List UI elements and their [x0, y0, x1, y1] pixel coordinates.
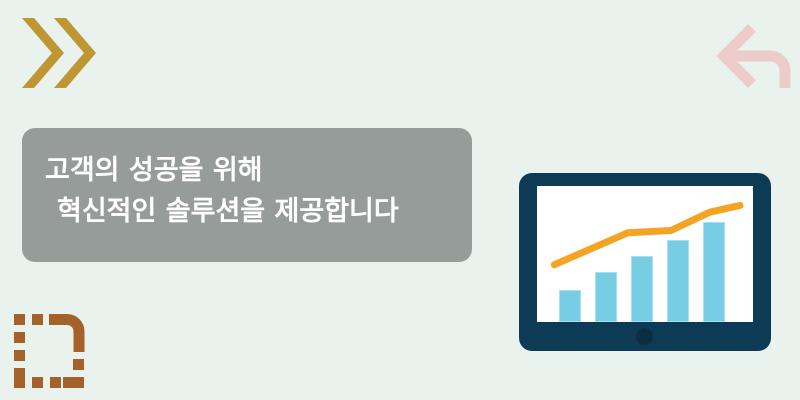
dashed-square-rounded-corner-icon: [12, 312, 86, 390]
reply-arrow-icon: [712, 18, 792, 94]
tablet-frame: [519, 173, 771, 351]
headline-panel: 고객의 성공을 위해 혁신적인 솔루션을 제공합니다: [22, 128, 472, 262]
slide-canvas: 고객의 성공을 위해 혁신적인 솔루션을 제공합니다: [0, 0, 800, 400]
trend-line-chart: [537, 186, 753, 322]
double-chevron-right-icon: [20, 16, 98, 90]
home-button[interactable]: [636, 328, 653, 345]
tablet-illustration: [519, 173, 773, 353]
tablet-screen: [537, 186, 753, 322]
headline-line-1: 고객의 성공을 위해: [45, 150, 472, 191]
headline-line-2: 혁신적인 솔루션을 제공합니다: [45, 191, 472, 232]
